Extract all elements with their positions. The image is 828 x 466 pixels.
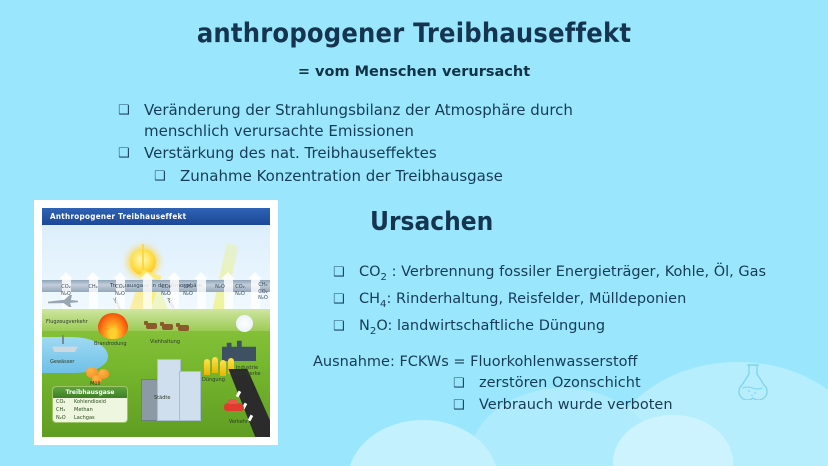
page-title: anthropogener Treibhauseffekt (0, 18, 828, 49)
crop-icon (220, 360, 226, 376)
list-item: ❑ Verstärkung des nat. Treibhauseffektes (118, 143, 638, 165)
cow-icon (162, 324, 173, 330)
gas-label: CH₄CO₂N₂O (250, 282, 270, 302)
list-item-label: zerstören Ozonschicht (479, 373, 641, 394)
ship-mast-icon (62, 335, 64, 344)
legend-row: CH₄ Methan (53, 406, 127, 414)
list-item: ❑ Verbrauch wurde verboten (453, 395, 783, 417)
legend-symbol: CO₂ (56, 399, 74, 405)
list-item: ❑ Zunahme Konzentration der Treibhausgas… (154, 166, 638, 188)
legend-name: Methan (74, 407, 93, 413)
scene-label: Düngung (202, 377, 225, 383)
crop-icon (204, 359, 210, 375)
scene-label: Flugzeugverkehr (46, 319, 88, 325)
scene-label: Viehhaltung (150, 339, 180, 345)
flask-icon (736, 362, 770, 400)
scene-label: Gewässer (50, 359, 74, 365)
scene-label: Städte (154, 395, 170, 401)
city-icon (141, 357, 203, 421)
bullet-square-icon: ❑ (333, 289, 359, 311)
list-item-label: Verbrauch wurde verboten (479, 395, 673, 416)
cow-icon (178, 325, 189, 331)
legend-symbol: N₂O (56, 415, 74, 421)
list-item: ❑ CO2 : Verbrennung fossiler Energieträg… (333, 262, 803, 288)
list-item: ❑ zerstören Ozonschicht (453, 373, 783, 395)
list-item-label: Verstärkung des nat. Treibhauseffektes (144, 143, 437, 164)
factory-icon (222, 335, 256, 361)
bullet-square-icon: ❑ (118, 143, 144, 165)
list-item: ❑ CH4: Rinderhaltung, Reisfelder, Müllde… (333, 289, 803, 315)
gas-label: CO₂N₂O (154, 284, 178, 297)
causes-bullet-list: ❑ CO2 : Verbrennung fossiler Energieträg… (333, 262, 803, 343)
list-item-label: N2O: landwirtschaftliche Düngung (359, 316, 605, 342)
exception-lead: Ausnahme: FCKWs = Fluorkohlenwasserstoff (313, 352, 783, 373)
bullet-square-icon: ❑ (154, 166, 180, 188)
legend-row: N₂O Lachgas (53, 414, 127, 422)
scene-label: Brandrodung (94, 341, 127, 347)
cloud-decoration (348, 420, 498, 466)
greenhouse-effect-diagram[interactable]: Anthropogener Treibhauseffekt Treibhausg… (34, 200, 278, 445)
slide: anthropogener Treibhauseffekt = vom Mens… (0, 0, 828, 466)
diagram-title: Anthropogener Treibhauseffekt (42, 208, 270, 226)
causes-heading: Ursachen (370, 207, 493, 237)
fire-icon (98, 313, 128, 339)
cow-icon (146, 323, 157, 329)
gas-label: CH₄N₂O (176, 284, 200, 297)
list-item: ❑ N2O: landwirtschaftliche Düngung (333, 316, 803, 342)
gas-label: CO₂N₂O (54, 284, 78, 297)
diagram-legend: Treibhausgase CO₂ Kohlendioxid CH₄ Metha… (52, 386, 128, 423)
gas-label: CO₂N₂O (228, 284, 252, 297)
scene-label: Industrie Kraftwerke (230, 365, 264, 377)
car-icon (224, 403, 244, 411)
bullet-square-icon: ❑ (333, 262, 359, 284)
smoke-cloud-icon (236, 315, 253, 332)
page-subtitle: = vom Menschen verursacht (0, 64, 828, 80)
bullet-square-icon: ❑ (453, 395, 479, 417)
list-item-label: CO2 : Verbrennung fossiler Energieträger… (359, 262, 766, 288)
diagram-canvas: Anthropogener Treibhauseffekt Treibhausg… (42, 208, 270, 437)
intro-bullet-list: ❑ Veränderung der Strahlungsbilanz der A… (118, 100, 638, 189)
legend-row: CO₂ Kohlendioxid (53, 398, 127, 406)
list-item-label: Veränderung der Strahlungsbilanz der Atm… (144, 100, 638, 142)
bullet-square-icon: ❑ (453, 373, 479, 395)
list-item-label: Zunahme Konzentration der Treibhausgase (180, 166, 503, 187)
diagram-ground: Flugzeugverkehr Brandrodung Viehhaltung … (42, 309, 270, 437)
legend-symbol: CH₄ (56, 407, 74, 413)
list-item: ❑ Veränderung der Strahlungsbilanz der A… (118, 100, 638, 142)
legend-name: Kohlendioxid (74, 399, 106, 405)
exception-block: Ausnahme: FCKWs = Fluorkohlenwasserstoff… (313, 352, 783, 417)
bullet-square-icon: ❑ (118, 100, 144, 122)
scene-label: Verkehr (229, 419, 248, 425)
legend-title: Treibhausgase (53, 387, 127, 398)
legend-name: Lachgas (74, 415, 95, 421)
crop-icon (212, 357, 218, 373)
gas-label: CH₄ (81, 284, 105, 291)
list-item-label: CH4: Rinderhaltung, Reisfelder, Mülldepo… (359, 289, 686, 315)
bullet-square-icon: ❑ (333, 316, 359, 338)
gas-label: CO₂N₂O (108, 284, 132, 297)
